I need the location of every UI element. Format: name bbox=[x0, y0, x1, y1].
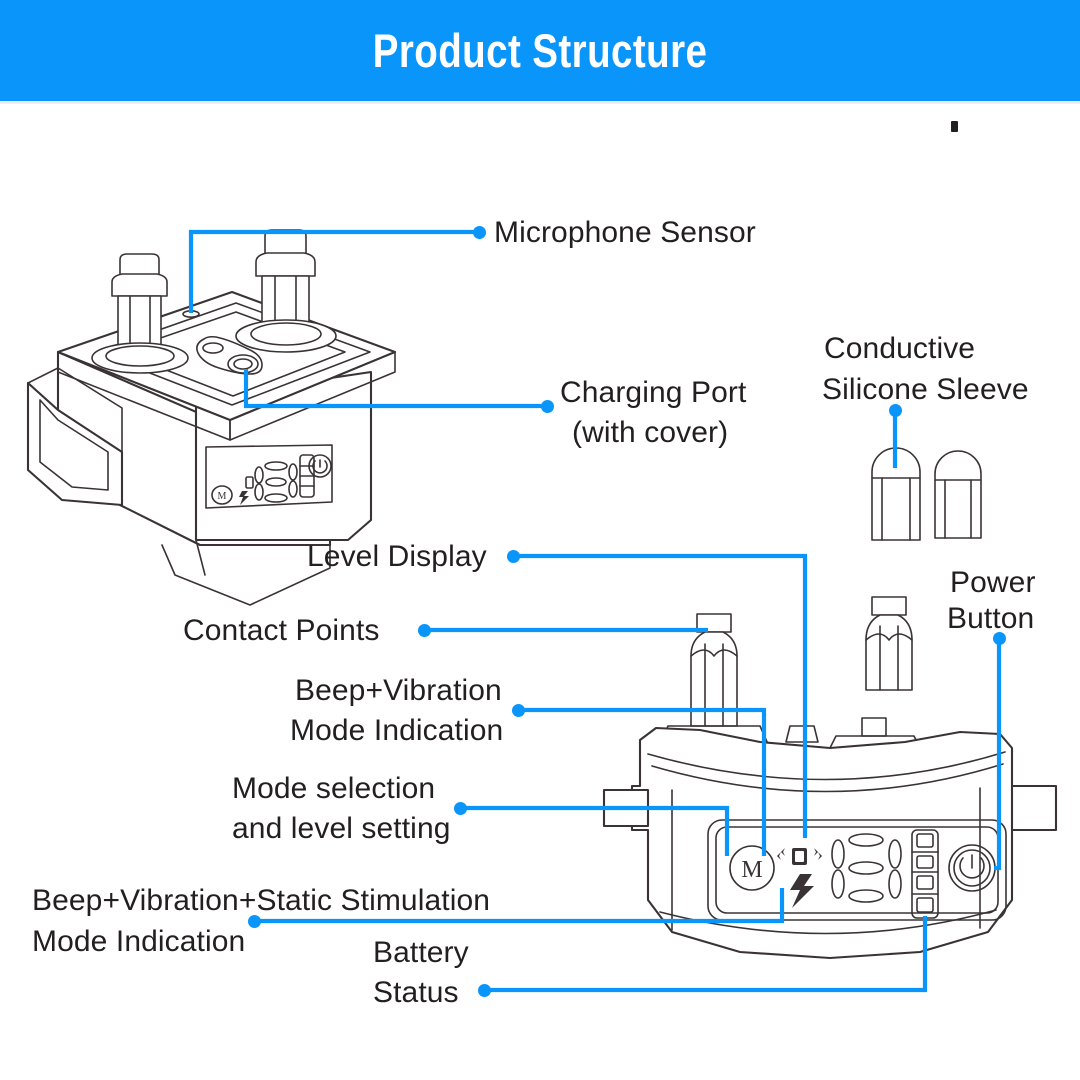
callout-label-battery-status-line1: Battery bbox=[373, 932, 469, 973]
callout-label-charging-port-line1: Charging Port bbox=[560, 372, 746, 413]
callout-label-battery-status-line2: Status bbox=[373, 972, 459, 1013]
callout-label-conductive-sleeve-line2: Silicone Sleeve bbox=[822, 369, 1029, 410]
callout-label-power-button-line1: Power bbox=[950, 562, 1036, 603]
callout-label-power-button-line2: Button bbox=[947, 598, 1034, 639]
leader-dot-battery-status bbox=[478, 984, 491, 997]
callout-label-beep-vibration-line1: Beep+Vibration bbox=[295, 670, 502, 711]
leader-dot-mode-selection bbox=[454, 802, 467, 815]
callout-label-microphone-sensor: Microphone Sensor bbox=[494, 212, 756, 253]
callout-label-contact-points: Contact Points bbox=[183, 610, 380, 651]
device-front-view: M bbox=[604, 597, 1056, 958]
leader-dot-beep-vibration-mode bbox=[512, 704, 525, 717]
silicone-sleeve-right bbox=[935, 451, 981, 538]
callout-label-conductive-sleeve-line1: Conductive bbox=[824, 328, 975, 369]
callout-label-level-display: Level Display bbox=[307, 536, 487, 577]
svg-text:M: M bbox=[741, 857, 762, 883]
callout-label-beep-vibration-static-line1: Beep+Vibration+Static Stimulation bbox=[32, 880, 490, 921]
callout-label-mode-selection-line1: Mode selection bbox=[232, 768, 435, 809]
loose-contact-prong bbox=[866, 597, 912, 690]
callout-label-beep-vibration-line2: Mode Indication bbox=[290, 710, 503, 751]
leader-dot-level-display bbox=[507, 550, 520, 563]
callout-label-charging-port-line2: (with cover) bbox=[572, 412, 728, 453]
leader-dot-charging-port bbox=[541, 400, 554, 413]
contact-prong-right bbox=[236, 230, 336, 352]
svg-text:M: M bbox=[218, 491, 227, 502]
callout-label-beep-vibration-static-line2: Mode Indication bbox=[32, 921, 245, 962]
leader-dot-microphone-sensor bbox=[473, 226, 486, 239]
callout-label-mode-selection-line2: and level setting bbox=[232, 808, 451, 849]
contact-prong-front bbox=[660, 614, 768, 744]
leader-dot-contact-points bbox=[418, 624, 431, 637]
